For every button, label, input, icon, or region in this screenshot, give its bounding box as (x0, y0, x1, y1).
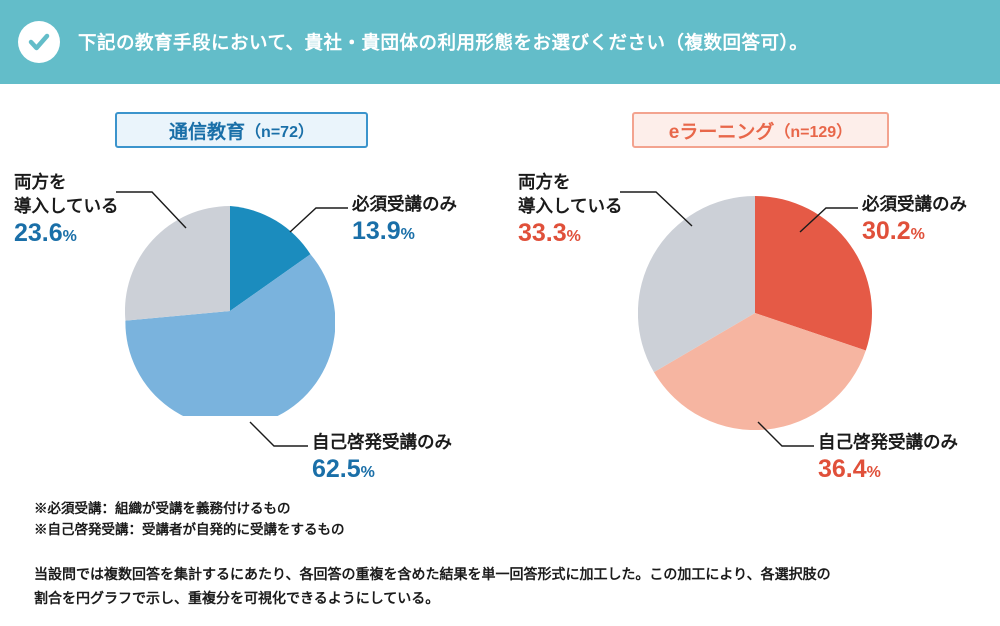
label-both-value: 23.6 (14, 219, 63, 247)
label-must-value: 13.9 (352, 217, 401, 245)
label-both-tsushin: 両方を 導入している 23.6% (14, 170, 118, 252)
footnote-line2: ※自己啓発受講：受講者が自発的に受講をするもの (34, 519, 974, 540)
label-both-value: 33.3 (518, 219, 567, 247)
label-self-text: 自己啓発受講のみ (818, 430, 958, 454)
label-must-unit: % (401, 226, 415, 243)
label-must-unit: % (911, 226, 925, 243)
label-must-tsushin: 必須受講のみ 13.9% (352, 192, 457, 250)
page-title: 下記の教育手段において、貴社・貴団体の利用形態をお選びください（複数回答可）。 (78, 29, 808, 55)
label-self-text: 自己啓発受講のみ (312, 430, 452, 454)
footnote-line1: ※必須受講：組織が受講を義務付けるもの (34, 498, 974, 519)
label-self-value: 36.4 (818, 455, 867, 483)
label-both-elearning: 両方を 導入している 33.3% (518, 170, 622, 252)
label-must-text: 必須受講のみ (352, 192, 457, 216)
label-both-unit: % (567, 228, 581, 245)
label-both-line2: 導入している (518, 194, 622, 218)
label-self-unit: % (867, 464, 881, 481)
label-both-line1: 両方を (14, 170, 118, 194)
footnote-body-line1: 当設問では複数回答を集計するにあたり、各回答の重複を含めた結果を単一回答形式に加… (34, 562, 974, 586)
footnote-body: 当設問では複数回答を集計するにあたり、各回答の重複を含めた結果を単一回答形式に加… (34, 562, 974, 610)
page-header: 下記の教育手段において、貴社・貴団体の利用形態をお選びください（複数回答可）。 (0, 0, 1000, 84)
label-must-elearning: 必須受講のみ 30.2% (862, 192, 967, 250)
label-both-unit: % (63, 228, 77, 245)
label-self-unit: % (361, 464, 375, 481)
label-both-line1: 両方を (518, 170, 622, 194)
label-self-value: 62.5 (312, 455, 361, 483)
label-self-elearning: 自己啓発受講のみ 36.4% (818, 430, 958, 488)
footnotes: ※必須受講：組織が受講を義務付けるもの ※自己啓発受講：受講者が自発的に受講をす… (34, 498, 974, 610)
label-must-value: 30.2 (862, 217, 911, 245)
label-self-tsushin: 自己啓発受講のみ 62.5% (312, 430, 452, 488)
check-circle-icon (18, 21, 60, 63)
label-must-text: 必須受講のみ (862, 192, 967, 216)
footnote-body-line2: 割合を円グラフで示し、重複分を可視化できるようにしている。 (34, 586, 974, 610)
label-both-line2: 導入している (14, 194, 118, 218)
